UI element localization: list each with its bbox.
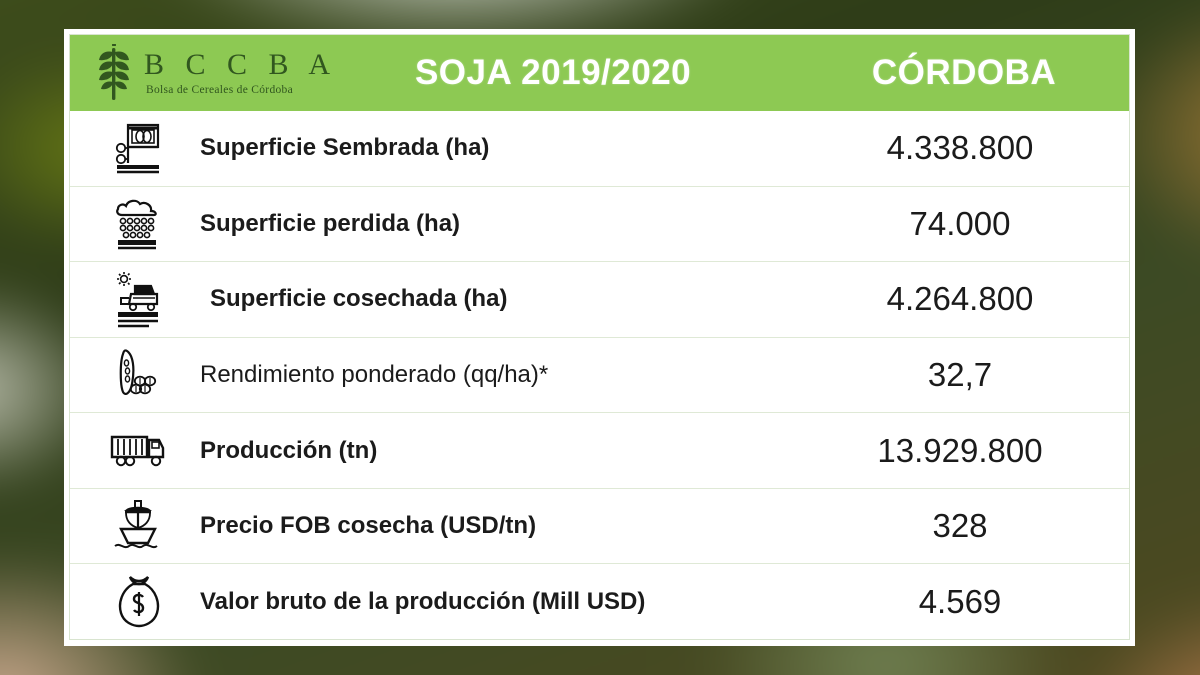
row-value: 4.338.800 xyxy=(799,129,1129,167)
row-icon-cell xyxy=(70,119,190,177)
soybean-pod-icon xyxy=(109,346,169,404)
row-value: 4.569 xyxy=(799,583,1129,621)
logo-name: B C C B A xyxy=(144,50,337,80)
wheat-stalk-icon xyxy=(92,44,136,102)
screenshot-stage: B C C B A Bolsa de Cereales de Córdoba S… xyxy=(0,0,1200,675)
logo-text-block: B C C B A Bolsa de Cereales de Córdoba xyxy=(144,50,337,97)
row-icon-cell xyxy=(70,497,190,555)
row-icon-cell xyxy=(70,346,190,404)
table-header: B C C B A Bolsa de Cereales de Córdoba S… xyxy=(70,35,1129,111)
row-label: Superficie Sembrada (ha) xyxy=(190,134,799,162)
logo-subtitle: Bolsa de Cereales de Córdoba xyxy=(146,85,337,97)
harvester-sun-icon xyxy=(109,270,169,328)
row-value: 328 xyxy=(799,507,1129,545)
seeder-planter-icon xyxy=(109,119,169,177)
row-value: 13.929.800 xyxy=(799,432,1129,470)
row-icon-cell xyxy=(70,427,190,475)
hail-cloud-icon xyxy=(109,195,169,253)
table-row: Superficie Sembrada (ha) 4.338.800 xyxy=(70,111,1129,186)
row-label: Rendimiento ponderado (qq/ha)* xyxy=(190,361,799,389)
soja-stats-card: B C C B A Bolsa de Cereales de Córdoba S… xyxy=(64,29,1135,646)
header-title: SOJA 2019/2020 xyxy=(337,53,799,93)
row-label: Precio FOB cosecha (USD/tn) xyxy=(190,512,799,540)
bccba-logo: B C C B A Bolsa de Cereales de Córdoba xyxy=(92,44,337,102)
cargo-ship-icon xyxy=(109,497,169,555)
table-row: Precio FOB cosecha (USD/tn) 328 xyxy=(70,488,1129,564)
money-bag-icon xyxy=(112,573,166,631)
row-label: Valor bruto de la producción (Mill USD) xyxy=(190,588,799,616)
header-region: CÓRDOBA xyxy=(799,53,1129,93)
row-value: 32,7 xyxy=(799,356,1129,394)
row-label: Producción (tn) xyxy=(190,437,799,465)
row-icon-cell xyxy=(70,270,190,328)
table-row: Valor bruto de la producción (Mill USD) … xyxy=(70,563,1129,639)
table-row: Superficie perdida (ha) 74.000 xyxy=(70,186,1129,262)
table-body: Superficie Sembrada (ha) 4.338.800 xyxy=(70,111,1129,639)
row-label: Superficie perdida (ha) xyxy=(190,210,799,238)
table-row: Superficie cosechada (ha) 4.264.800 xyxy=(70,261,1129,337)
row-label: Superficie cosechada (ha) xyxy=(190,285,799,313)
table-row: Rendimiento ponderado (qq/ha)* 32,7 xyxy=(70,337,1129,413)
row-value: 4.264.800 xyxy=(799,280,1129,318)
stats-table: B C C B A Bolsa de Cereales de Córdoba S… xyxy=(69,34,1130,640)
row-icon-cell xyxy=(70,573,190,631)
header-logo-cell: B C C B A Bolsa de Cereales de Córdoba xyxy=(70,44,337,102)
row-value: 74.000 xyxy=(799,205,1129,243)
table-row: Producción (tn) 13.929.800 xyxy=(70,412,1129,488)
dump-truck-icon xyxy=(107,427,171,475)
row-icon-cell xyxy=(70,195,190,253)
